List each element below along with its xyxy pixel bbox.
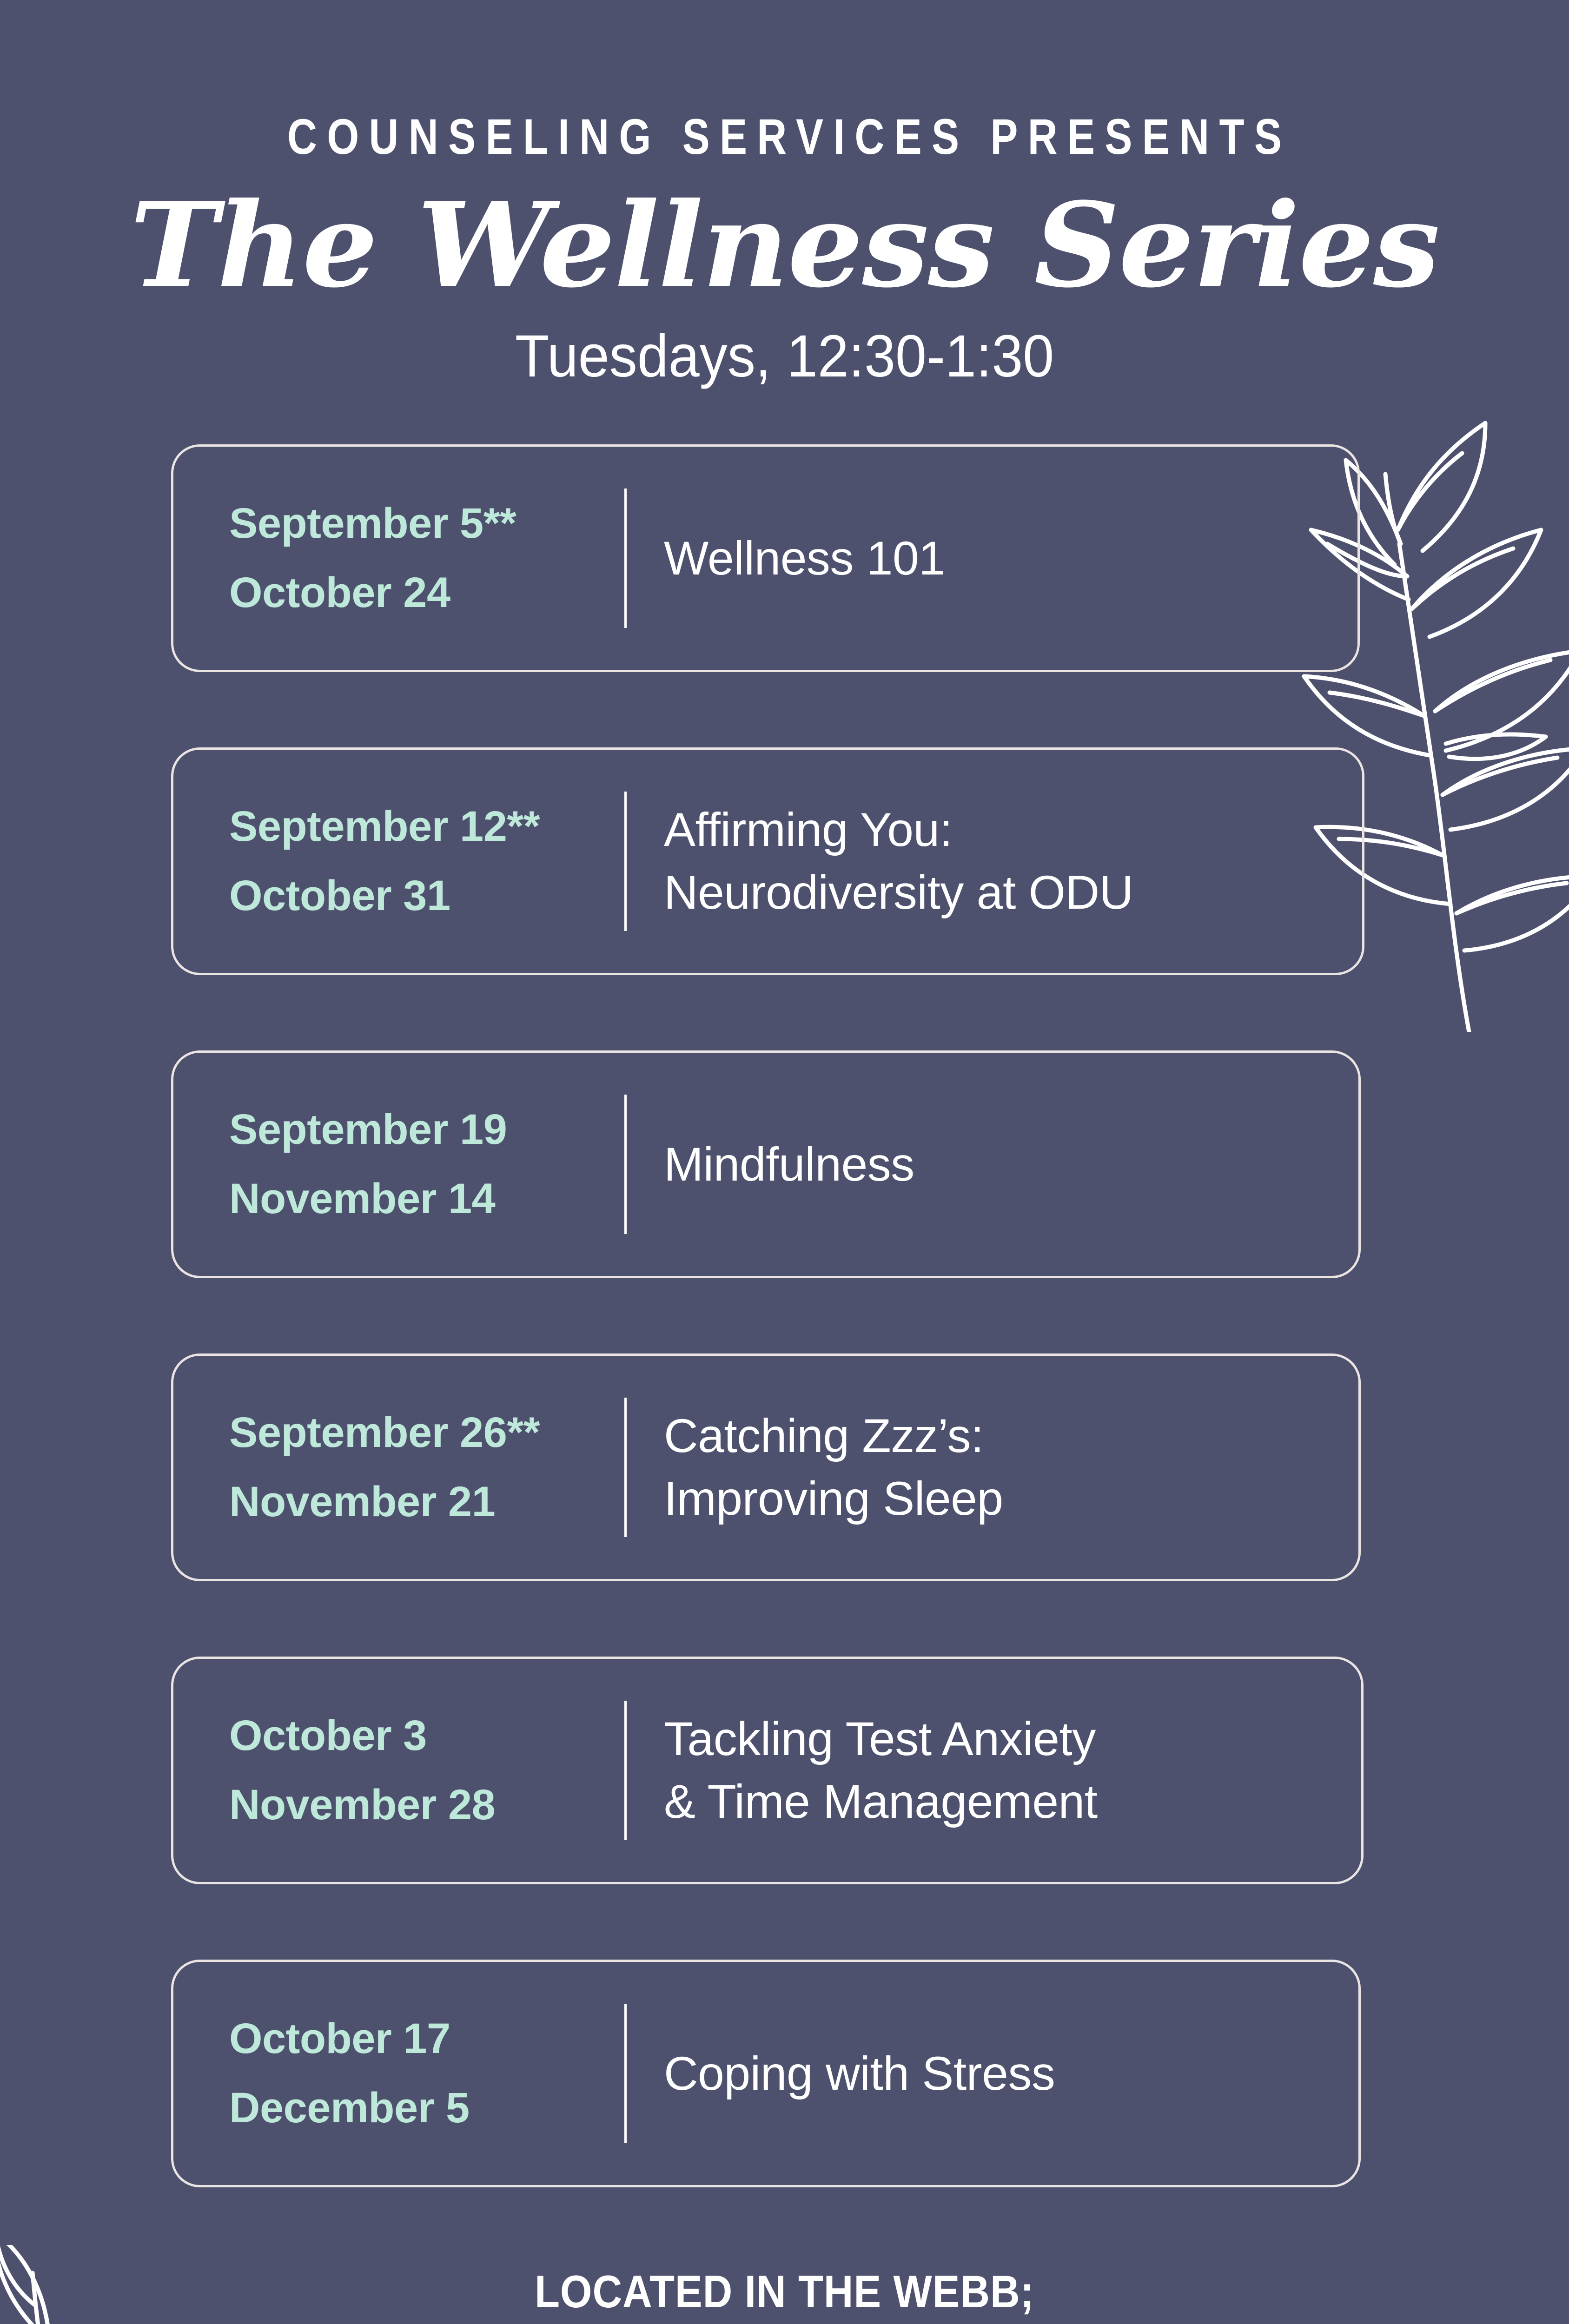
session-card: October 17 December 5 Coping with Stress xyxy=(171,1960,1361,2187)
poster-footer: LOCATED IN THE WEBB; VIRGINIA RICE ROOM … xyxy=(0,2263,1569,2324)
session-dates: October 3 November 28 xyxy=(229,1701,624,1840)
session-date-line: October 31 xyxy=(229,861,624,931)
session-topic: Catching Zzz’s: Improving Sleep xyxy=(664,1405,1003,1530)
session-date-line: October 17 xyxy=(229,2004,624,2073)
session-list: September 5** October 24 Wellness 101 Se… xyxy=(0,444,1569,2187)
location-text: LOCATED IN THE WEBB; VIRGINIA RICE ROOM … xyxy=(79,2263,1491,2324)
session-date-line: November 21 xyxy=(229,1467,624,1537)
wellness-series-poster: COUNSELING SERVICES PRESENTS The Wellnes… xyxy=(0,0,1569,2324)
poster-header: COUNSELING SERVICES PRESENTS The Wellnes… xyxy=(0,0,1569,386)
session-topic: Wellness 101 xyxy=(664,527,945,590)
eyebrow-text: COUNSELING SERVICES PRESENTS xyxy=(141,112,1428,162)
card-divider xyxy=(624,2004,627,2143)
location-line: LOCATED IN THE WEBB; xyxy=(79,2263,1491,2321)
session-topic: Affirming You: Neurodiversity at ODU xyxy=(664,799,1133,924)
location-line: VIRGINIA RICE ROOM 1307 xyxy=(79,2321,1491,2324)
session-topic: Coping with Stress xyxy=(664,2042,1055,2105)
session-dates: September 12** October 31 xyxy=(229,792,624,931)
session-topic-line: Affirming You: xyxy=(664,799,1133,861)
session-dates: September 19 November 14 xyxy=(229,1095,624,1234)
card-divider xyxy=(624,1095,627,1234)
session-dates: September 5** October 24 xyxy=(229,489,624,627)
session-date-line: November 14 xyxy=(229,1164,624,1234)
card-divider xyxy=(624,489,627,628)
session-topic: Mindfulness xyxy=(664,1133,914,1196)
session-card: September 26** November 21 Catching Zzz’… xyxy=(171,1353,1361,1581)
session-card: October 3 November 28 Tackling Test Anxi… xyxy=(171,1657,1364,1884)
session-topic-line: Improving Sleep xyxy=(664,1467,1003,1530)
page-title: The Wellness Series xyxy=(0,186,1569,304)
session-date-line: September 5** xyxy=(229,489,624,558)
session-topic: Tackling Test Anxiety & Time Management xyxy=(664,1708,1098,1833)
session-topic-line: Coping with Stress xyxy=(664,2042,1055,2105)
session-dates: September 26** November 21 xyxy=(229,1398,624,1537)
session-card: September 5** October 24 Wellness 101 xyxy=(171,444,1360,672)
session-date-line: December 5 xyxy=(229,2073,624,2143)
session-card: September 19 November 14 Mindfulness xyxy=(171,1050,1361,1278)
session-topic-line: & Time Management xyxy=(664,1770,1098,1833)
session-topic-line: Mindfulness xyxy=(664,1133,914,1196)
session-date-line: October 24 xyxy=(229,558,624,627)
session-topic-line: Catching Zzz’s: xyxy=(664,1405,1003,1467)
session-date-line: October 3 xyxy=(229,1701,624,1770)
card-divider xyxy=(624,792,627,931)
schedule-subtitle: Tuesdays, 12:30-1:30 xyxy=(47,327,1522,386)
session-date-line: September 26** xyxy=(229,1398,624,1467)
session-dates: October 17 December 5 xyxy=(229,2004,624,2143)
session-card: September 12** October 31 Affirming You:… xyxy=(171,747,1364,975)
session-topic-line: Tackling Test Anxiety xyxy=(664,1708,1098,1770)
session-date-line: November 28 xyxy=(229,1770,624,1840)
session-date-line: September 19 xyxy=(229,1095,624,1164)
session-date-line: September 12** xyxy=(229,792,624,861)
session-topic-line: Neurodiversity at ODU xyxy=(664,861,1133,924)
session-topic-line: Wellness 101 xyxy=(664,527,945,590)
card-divider xyxy=(624,1398,627,1537)
card-divider xyxy=(624,1701,627,1840)
